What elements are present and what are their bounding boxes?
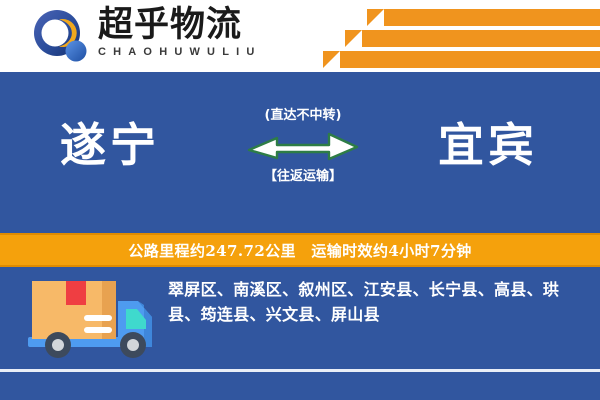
round-trip-note: 【往返运输】 bbox=[243, 169, 363, 185]
header-stripes-decoration bbox=[340, 0, 600, 72]
brand-name-cn: 超乎物流 bbox=[98, 6, 348, 44]
route-arrow-group: (直达不中转) 【往返运输】 bbox=[243, 108, 363, 212]
logistics-route-banner: 超乎物流 CHAOHUWULIU 遂宁 (直达不中转) 【往返运输】 宜宾 公路… bbox=[0, 0, 600, 400]
route-panel: 遂宁 (直达不中转) 【往返运输】 宜宾 bbox=[0, 72, 600, 233]
banner-header: 超乎物流 CHAOHUWULIU bbox=[0, 0, 600, 72]
brand-name-en: CHAOHUWULIU bbox=[98, 46, 348, 58]
coverage-districts-text: 翠屏区、南溪区、叙州区、江安县、长宁县、高县、珙县、筠连县、兴文县、屏山县 bbox=[168, 277, 580, 327]
bidirectional-arrow-icon bbox=[243, 130, 363, 164]
brand-wordmark: 超乎物流 CHAOHUWULIU bbox=[98, 6, 348, 66]
circle-crescent-logo-icon bbox=[32, 9, 88, 65]
direct-service-note: (直达不中转) bbox=[243, 108, 363, 124]
delivery-truck-icon bbox=[22, 275, 162, 367]
header-stripe-2 bbox=[362, 30, 600, 47]
distance-duration-text: 公路里程约247.72公里 运输时效约4小时7分钟 bbox=[128, 240, 471, 261]
destination-city: 宜宾 bbox=[438, 118, 538, 172]
origin-city: 遂宁 bbox=[60, 118, 160, 172]
bottom-divider bbox=[0, 369, 600, 372]
header-stripe-3 bbox=[340, 51, 600, 68]
distance-duration-bar: 公路里程约247.72公里 运输时效约4小时7分钟 bbox=[0, 233, 600, 267]
coverage-section: 翠屏区、南溪区、叙州区、江安县、长宁县、高县、珙县、筠连县、兴文县、屏山县 bbox=[0, 267, 600, 400]
header-stripe-1 bbox=[384, 9, 600, 26]
